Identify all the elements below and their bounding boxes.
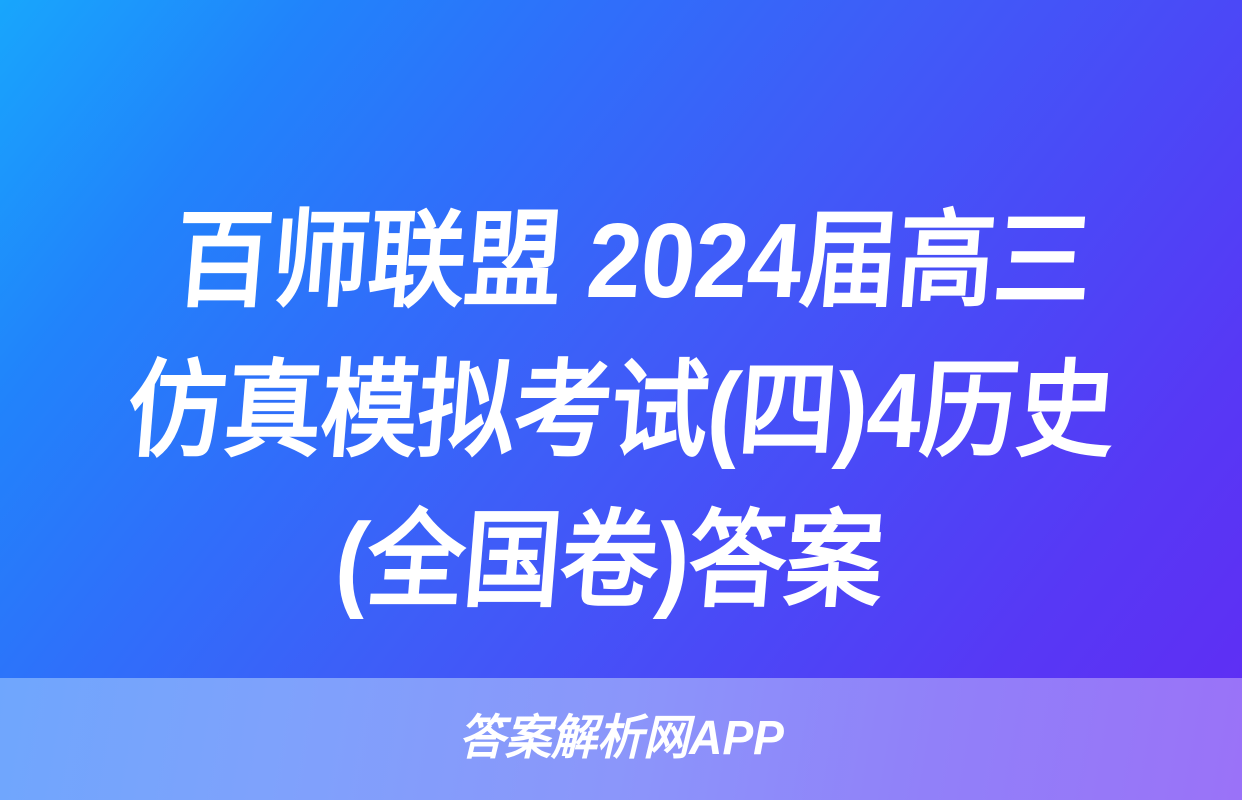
watermark: 答案解析网APP [0, 678, 1242, 800]
watermark-text: 答案解析网APP [458, 715, 783, 763]
poster-canvas: 百师联盟 2024届高三仿真模拟考试(四)4历史(全国卷)答案 答案解析网APP [0, 0, 1242, 800]
page-title-text: 百师联盟 2024届高三仿真模拟考试(四)4历史(全国卷)答案 [97, 186, 1145, 636]
page-title: 百师联盟 2024届高三仿真模拟考试(四)4历史(全国卷)答案 [71, 186, 1171, 636]
